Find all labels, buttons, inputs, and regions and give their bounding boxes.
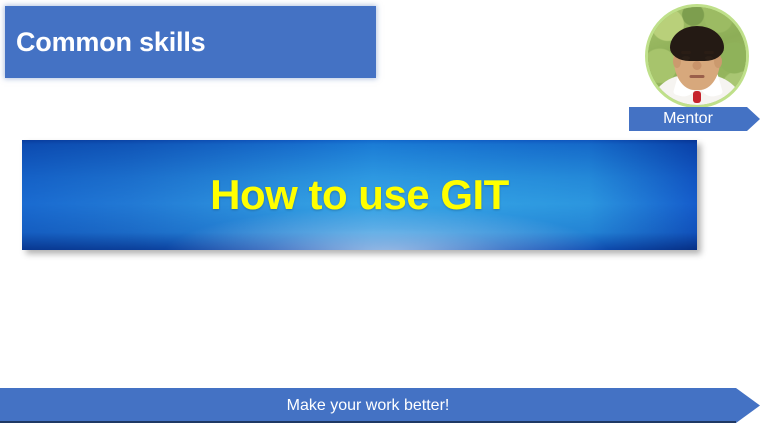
footer-ribbon-border-bottom	[0, 421, 736, 423]
avatar-eyebrow-left	[681, 51, 691, 54]
avatar-hair	[670, 26, 724, 61]
footer-ribbon: Make your work better!	[0, 388, 760, 423]
presenter-role-ribbon: Mentor	[629, 107, 760, 131]
slide-title-banner: How to use GIT	[22, 140, 697, 250]
footer-tagline-label: Make your work better!	[287, 398, 450, 414]
avatar-mouth	[690, 75, 705, 78]
section-title-label: Common skills	[16, 29, 205, 56]
avatar	[645, 4, 749, 108]
slide-title-banner-content: How to use GIT	[22, 140, 697, 250]
presenter-role-label: Mentor	[663, 111, 713, 127]
avatar-eye-right	[705, 56, 713, 60]
section-title-banner: Common skills	[5, 6, 376, 78]
slide-title-label: How to use GIT	[210, 174, 509, 216]
avatar-shirt-accent	[693, 91, 701, 103]
avatar-eye-left	[682, 56, 690, 60]
avatar-eyebrow-right	[704, 51, 714, 54]
avatar-nose	[693, 61, 702, 70]
presenter-avatar-wrap	[645, 4, 749, 108]
presentation-slide: Common skills Mentor How to	[0, 0, 760, 430]
